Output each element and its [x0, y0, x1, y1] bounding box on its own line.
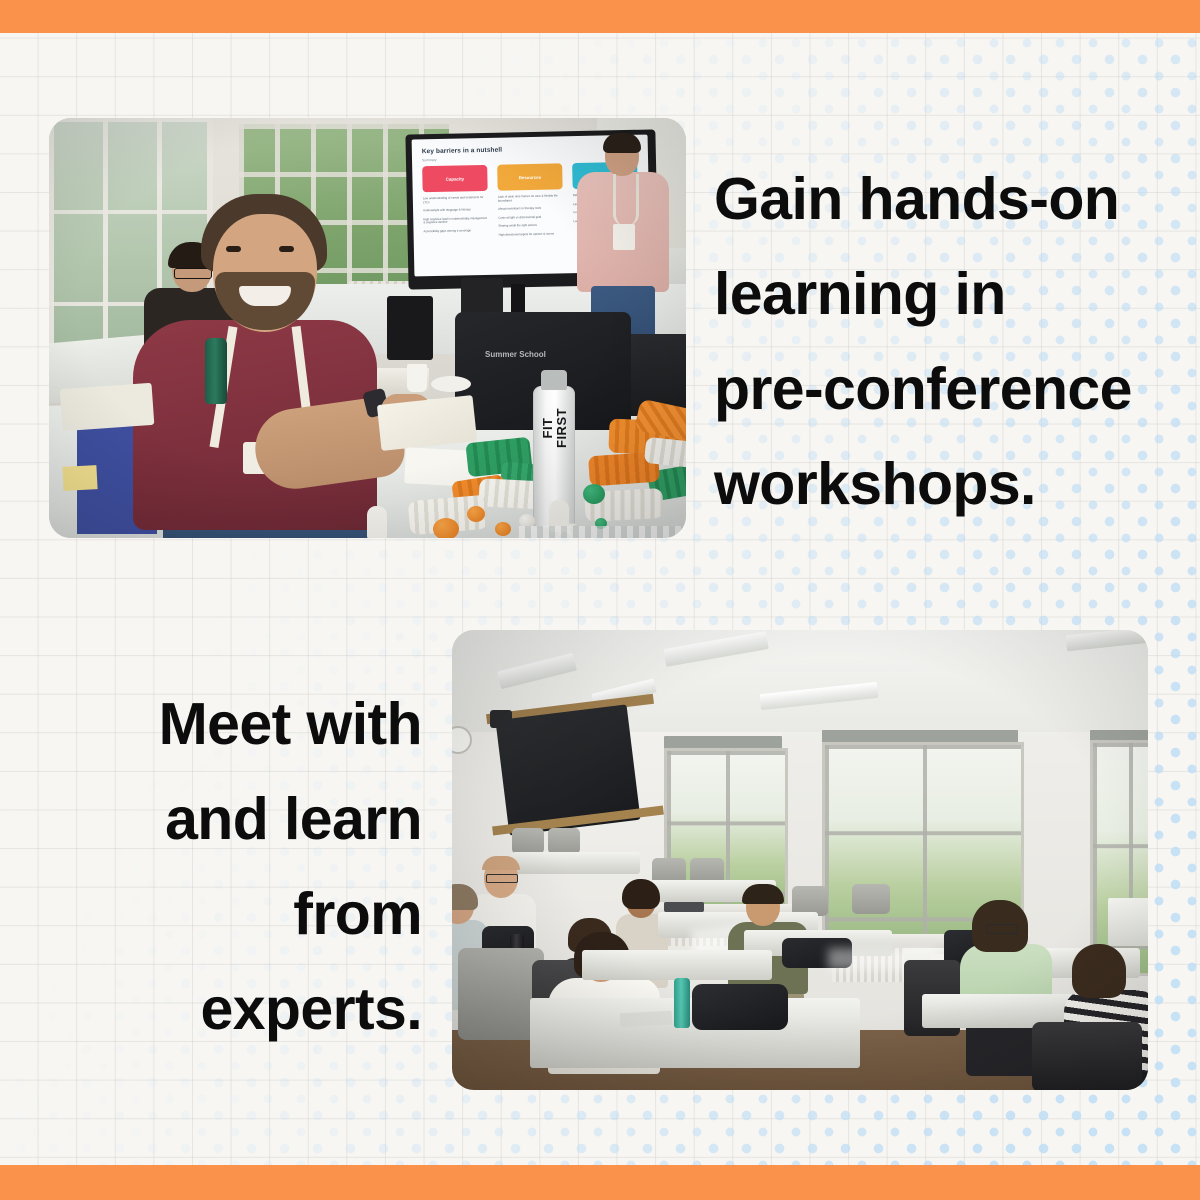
heading-experts: Meet with and learn from experts. — [60, 677, 422, 1057]
bottom-accent-bar — [0, 1165, 1200, 1200]
classroom-scene — [452, 630, 1148, 1090]
promo-poster: Key barriers in a nutshell Summary Capac… — [0, 0, 1200, 1200]
photo-vignette — [452, 630, 1148, 1090]
workshop-photo: Key barriers in a nutshell Summary Capac… — [49, 118, 686, 538]
top-accent-bar — [0, 0, 1200, 33]
heading-workshops: Gain hands-on learning in pre-conference… — [714, 152, 1184, 532]
photo-vignette — [49, 118, 686, 538]
workshop-scene: Key barriers in a nutshell Summary Capac… — [49, 118, 686, 538]
classroom-photo — [452, 630, 1148, 1090]
